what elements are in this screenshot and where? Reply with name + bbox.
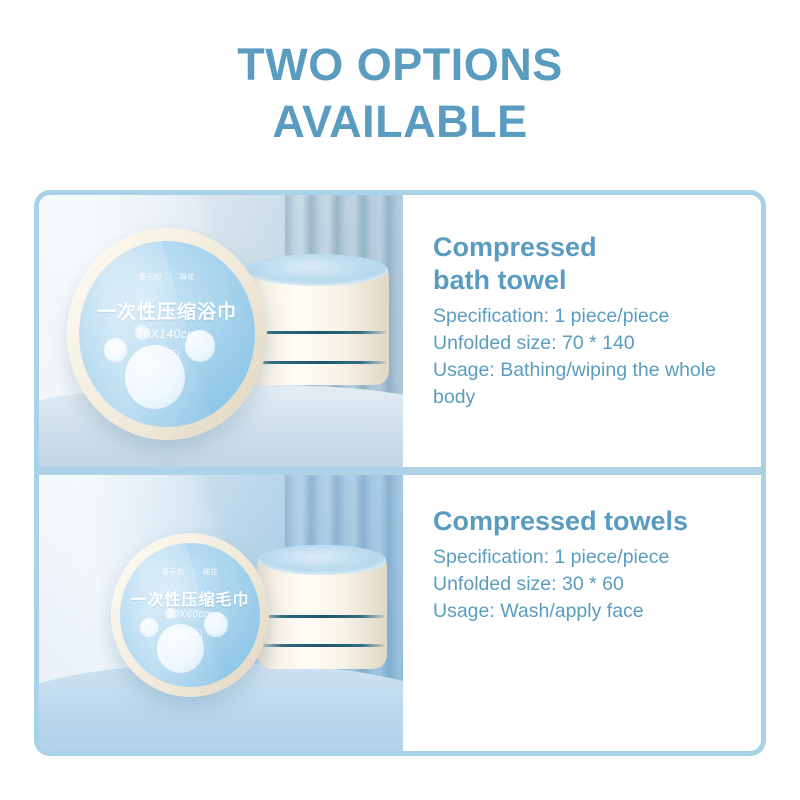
cotton-boll-icon (157, 624, 204, 673)
disc-stack-top-face (258, 545, 385, 575)
option-info-bath-towel: Compressed bath towel Specification: 1 p… (403, 195, 761, 467)
option-size-towels: Unfolded size: 30 * 60 (433, 571, 761, 598)
product-photo-towels: 春天的|棉花 一次性压缩毛巾 30X60cm 1PC (39, 475, 403, 751)
label-count-text: 1PC (178, 629, 202, 640)
option-row-bath-towel: 春天的|棉花 一次性压缩浴巾 70X140cm 1PC Compressed b… (39, 195, 761, 467)
product-photo-bath-towel: 春天的|棉花 一次性压缩浴巾 70X140cm 1PC (39, 195, 403, 467)
option-info-towels: Compressed towels Specification: 1 piece… (403, 475, 761, 751)
label-brand-mark: 春天的|棉花 (79, 272, 255, 282)
cotton-boll-icon (165, 608, 176, 620)
option-heading-towels: Compressed towels (433, 505, 761, 538)
option-size-bath-towel: Unfolded size: 70 * 140 (433, 330, 761, 357)
option-heading-line-1: Compressed (433, 232, 597, 262)
label-count-badge: 1PC (79, 345, 255, 363)
label-count-badge: 1PC (120, 624, 259, 642)
label-brand-left: 春天的 (158, 567, 189, 577)
label-product-name: 一次性压缩浴巾 (79, 297, 255, 324)
label-dimensions: 70X140cm (79, 327, 255, 341)
option-row-towels: 春天的|棉花 一次性压缩毛巾 30X60cm 1PC Compressed to… (39, 475, 761, 751)
disc-stack-top-face (245, 254, 387, 286)
page-title-line-1: TWO OPTIONS (0, 36, 800, 93)
label-count-text: 1PC (155, 350, 179, 361)
label-product-name: 一次性压缩毛巾 (120, 586, 259, 610)
disc-stack-seam-1 (260, 615, 385, 618)
label-brand-mark: 春天的|棉花 (120, 567, 259, 577)
label-dimensions: 30X60cm (120, 609, 259, 620)
towel-disc-front: 春天的|棉花 一次性压缩浴巾 70X140cm 1PC (67, 228, 267, 440)
label-brand-left: 春天的 (135, 272, 166, 282)
option-usage-bath-towel: Usage: Bathing/wiping the whole body (433, 357, 761, 411)
option-heading-bath-towel: Compressed bath towel (433, 231, 761, 297)
towel-disc-stack (257, 557, 387, 669)
cotton-boll-icon (104, 338, 127, 362)
page-title: TWO OPTIONS AVAILABLE (0, 36, 800, 150)
disc-stack-seam-2 (260, 644, 385, 647)
disc-label-bath-towel: 春天的|棉花 一次性压缩浴巾 70X140cm 1PC (79, 241, 255, 428)
option-heading-line-1: Compressed towels (433, 506, 688, 536)
option-usage-towels: Usage: Wash/apply face (433, 598, 761, 625)
option-spec-towels: Specification: 1 piece/piece (433, 544, 761, 571)
label-brand-right: 棉花 (199, 567, 222, 577)
option-spec-bath-towel: Specification: 1 piece/piece (433, 303, 761, 330)
cotton-boll-icon (125, 345, 185, 408)
label-brand-separator: | (189, 569, 199, 576)
cotton-boll-icon (140, 618, 158, 637)
towel-disc-front: 春天的|棉花 一次性压缩毛巾 30X60cm 1PC (111, 533, 269, 697)
option-heading-line-2: bath towel (433, 265, 567, 295)
label-brand-right: 棉花 (176, 272, 199, 282)
options-card: 春天的|棉花 一次性压缩浴巾 70X140cm 1PC Compressed b… (34, 190, 766, 756)
disc-stack-seam-1 (247, 331, 386, 334)
cotton-boll-icon (135, 325, 149, 340)
page-title-line-2: AVAILABLE (0, 93, 800, 150)
disc-label-towels: 春天的|棉花 一次性压缩毛巾 30X60cm 1PC (120, 543, 259, 687)
label-brand-separator: | (166, 274, 176, 281)
row-divider (39, 467, 761, 475)
disc-stack-seam-2 (247, 361, 386, 364)
